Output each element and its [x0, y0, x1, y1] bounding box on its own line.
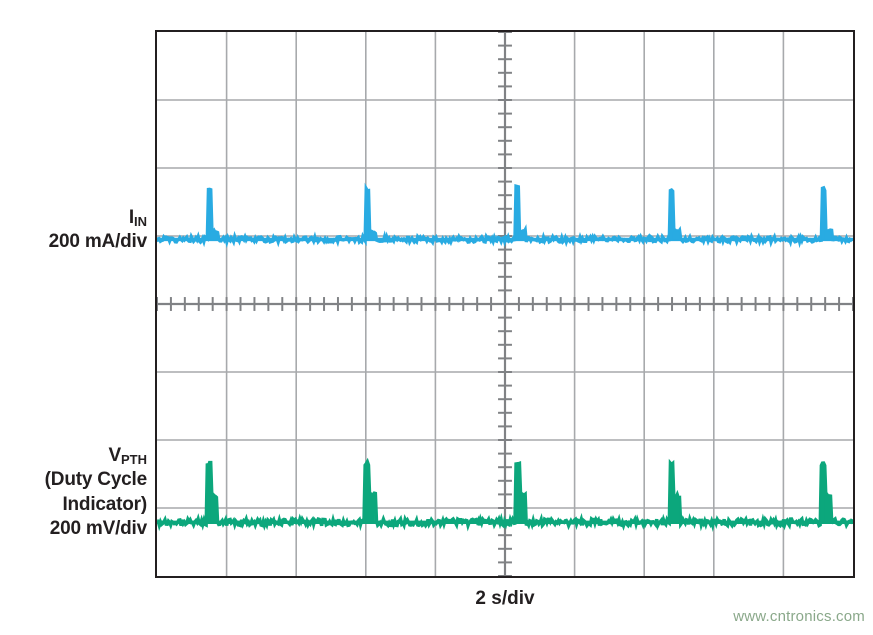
- channel-1-scale: 200 mA/div: [0, 230, 147, 254]
- channel-2-label: VPTH (Duty Cycle Indicator) 200 mV/div: [0, 444, 147, 541]
- waveform-spike-shoulder: [672, 232, 679, 239]
- waveform-spike-shoulder: [369, 495, 375, 522]
- waveform-spike-shoulder: [519, 496, 525, 523]
- waveform-spike: [669, 465, 673, 522]
- channel-2-scale: 200 mV/div: [0, 517, 147, 541]
- waveform-spike: [515, 464, 519, 522]
- oscilloscope-graticule: [155, 30, 855, 578]
- waveform-spike-shoulder: [210, 231, 217, 239]
- timebase-label: 2 s/div: [155, 588, 855, 610]
- waveform-spike-shoulder: [673, 496, 679, 522]
- waveform-spike-shoulder: [519, 231, 526, 239]
- waveform-spike: [365, 464, 369, 522]
- channel-2-name: VPTH: [0, 444, 147, 468]
- channel-1-name: IIN: [0, 206, 147, 230]
- waveform-spike: [821, 464, 825, 522]
- channel-1-label: IIN 200 mA/div: [0, 206, 147, 255]
- waveform-spike: [207, 464, 211, 522]
- waveform-spike-shoulder: [824, 231, 831, 239]
- waveform-spike-shoulder: [825, 496, 831, 523]
- channel-2-annotation-line-2: Indicator): [0, 493, 147, 517]
- waveform-spike-shoulder: [211, 496, 217, 522]
- site-watermark: www.cntronics.com: [733, 608, 865, 625]
- channel-2-annotation-line-1: (Duty Cycle: [0, 468, 147, 492]
- waveform-plot: [157, 32, 853, 576]
- waveform-spike-shoulder: [368, 232, 375, 239]
